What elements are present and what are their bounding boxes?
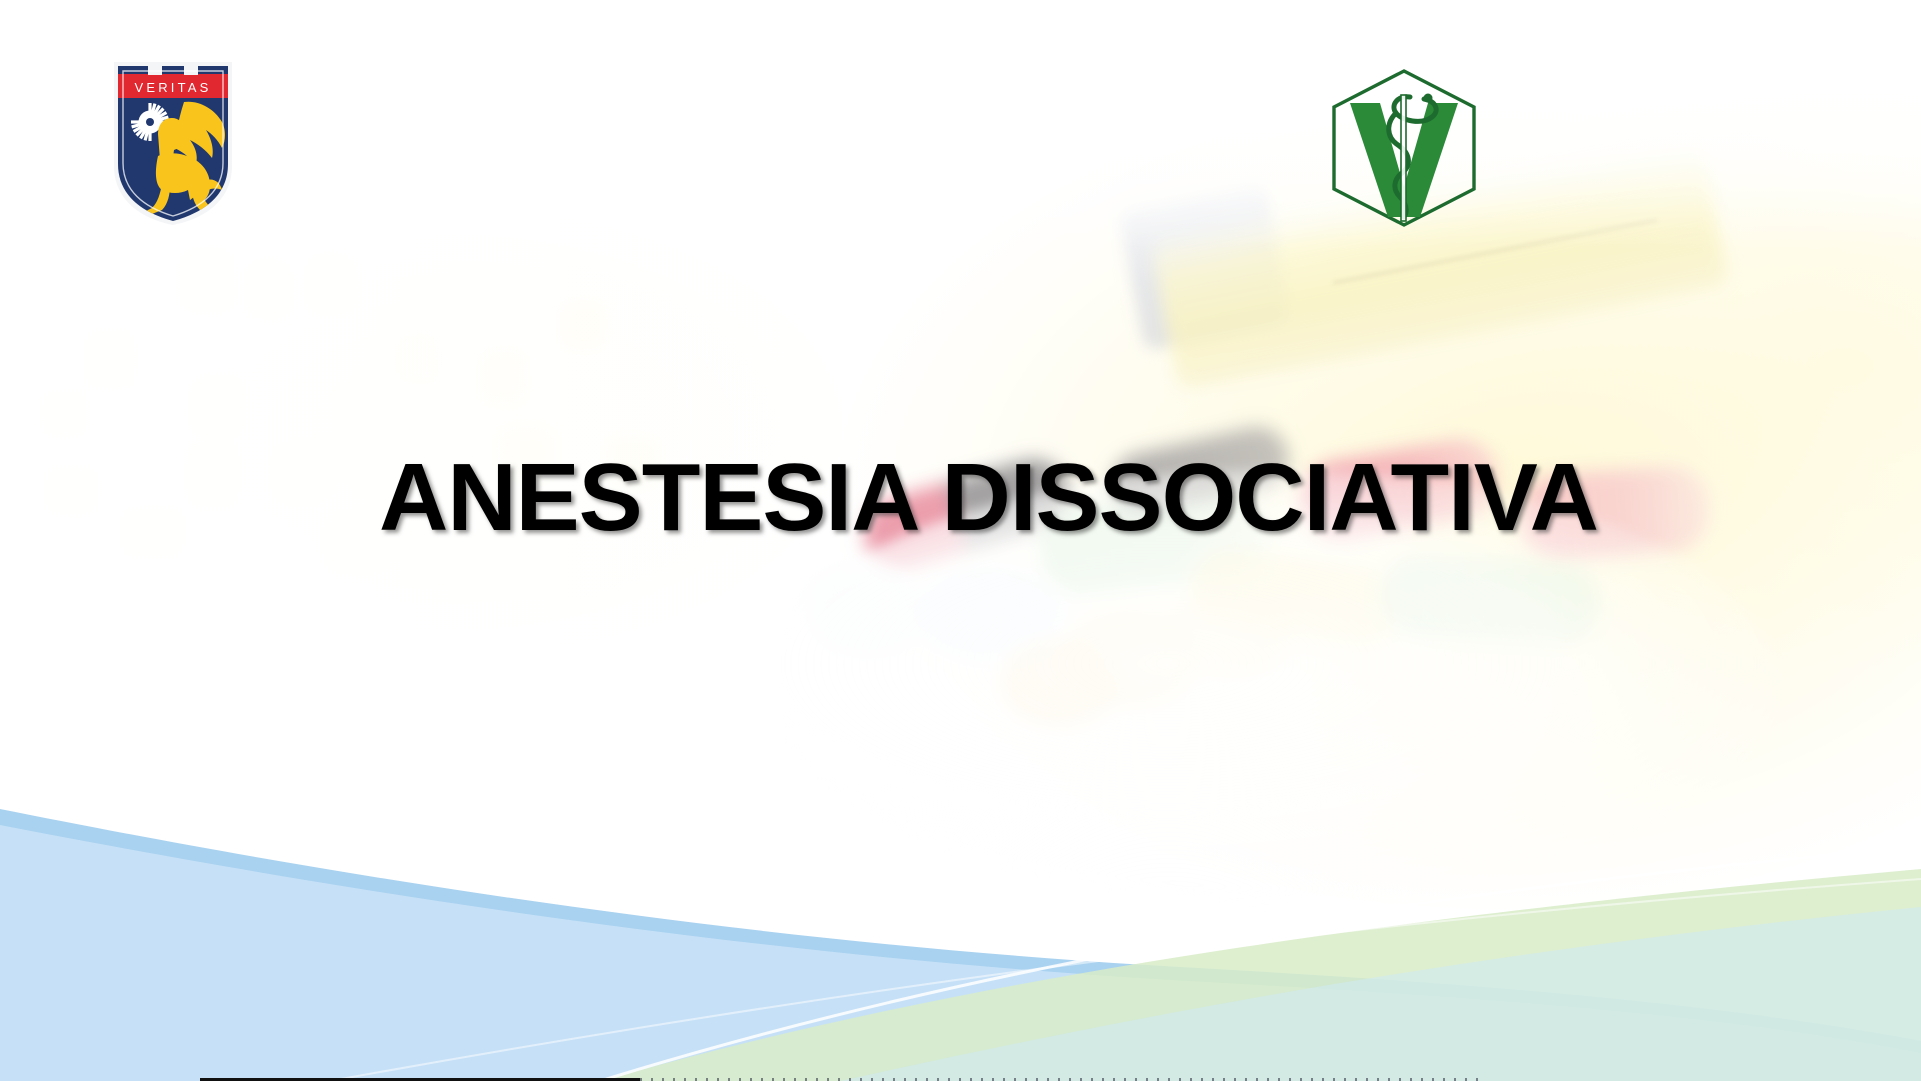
veterinary-v-logo <box>1324 65 1484 230</box>
veritas-shield-logo: VERITAS <box>114 60 232 225</box>
background-pill-faint <box>390 330 438 386</box>
wave-blue-band <box>0 809 1921 1081</box>
bottom-wave-decoration <box>0 611 1921 1081</box>
background-tablet-blue <box>918 566 1068 662</box>
background-pill-faint <box>194 380 240 434</box>
shield-banner-text: VERITAS <box>134 80 211 95</box>
background-pill-faint <box>560 300 606 348</box>
background-tablet-orange <box>1000 640 1120 726</box>
presentation-slide: VERITAS <box>0 0 1921 1081</box>
background-syringe-cap <box>1118 183 1292 351</box>
title-container: ANESTESIA DISSOCIATIVA <box>0 448 1921 549</box>
background-capsule-green <box>1378 554 1602 645</box>
background-tablet-yellow <box>1160 590 1290 676</box>
background-pill-faint <box>180 250 232 310</box>
wave-highlight-line-2 <box>330 879 1921 1081</box>
background-tablet-yellow <box>1060 610 1200 706</box>
wave-green-band <box>600 869 1921 1081</box>
wave-blue-light <box>0 825 1921 1081</box>
wave-highlight-line <box>600 847 1921 1081</box>
background-pill-faint <box>84 330 134 388</box>
slide-title: ANESTESIA DISSOCIATIVA <box>379 448 1598 549</box>
vet-snake-head <box>1424 94 1433 103</box>
wave-teal-band <box>840 907 1921 1081</box>
background-capsule-yellow <box>1186 546 1405 652</box>
background-pill-faint <box>248 262 288 314</box>
background-pill-faint <box>480 350 524 402</box>
background-tablet-white <box>810 570 930 656</box>
background-pill-faint <box>310 258 352 308</box>
background-top-fade <box>0 0 1921 250</box>
background-pill-faint <box>40 390 88 438</box>
